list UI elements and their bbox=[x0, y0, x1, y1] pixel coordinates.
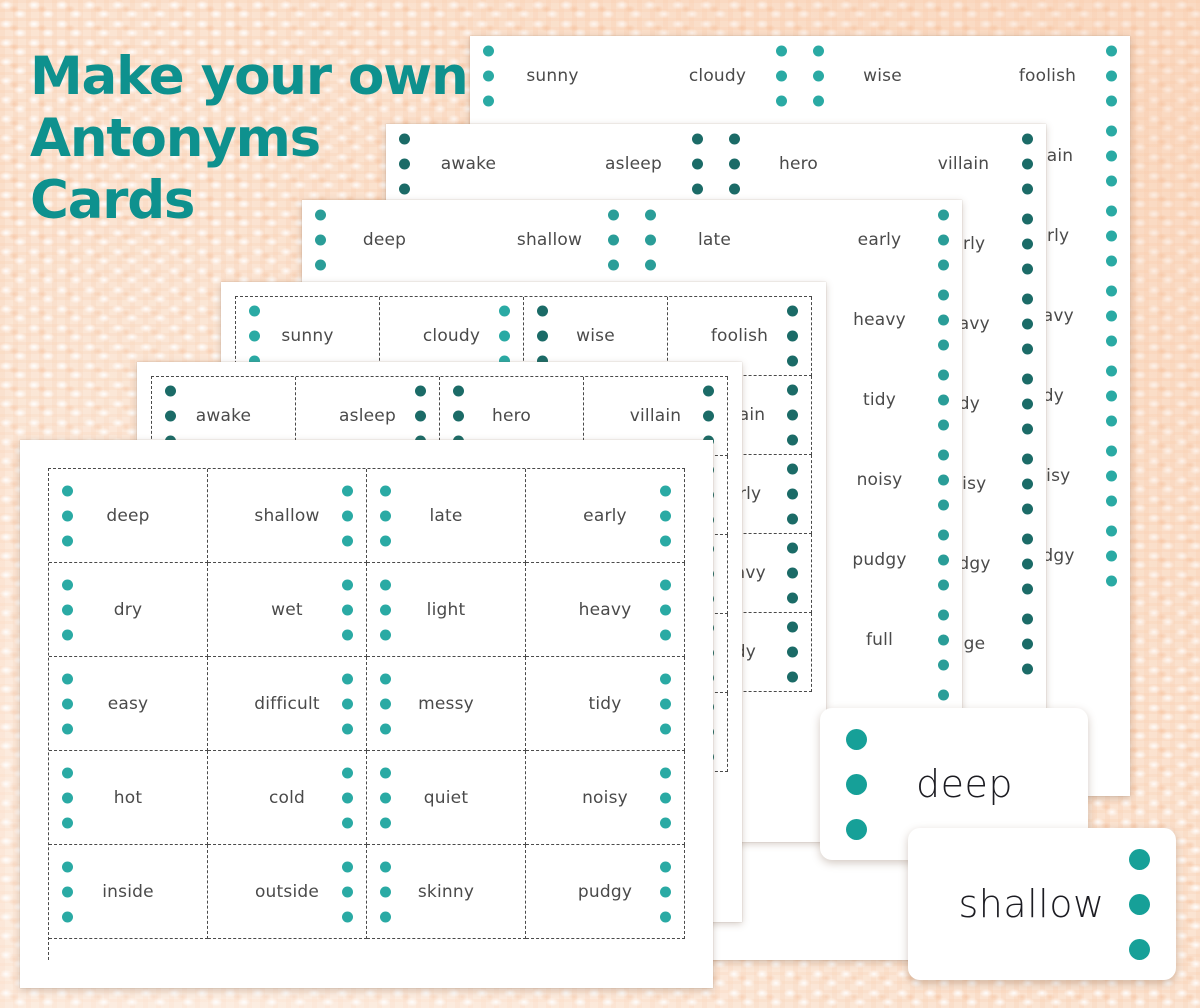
dot bbox=[1106, 231, 1117, 242]
dot-column bbox=[1022, 454, 1033, 515]
dot-column bbox=[342, 673, 353, 734]
card-word: shallow bbox=[254, 506, 319, 526]
dot bbox=[1106, 96, 1117, 107]
dot bbox=[499, 306, 510, 317]
flashcard-dot-column bbox=[846, 729, 867, 840]
card-word: cloudy bbox=[689, 66, 746, 86]
dot bbox=[787, 593, 798, 604]
dot-column bbox=[62, 673, 73, 734]
dot bbox=[499, 331, 510, 342]
dot bbox=[1106, 286, 1117, 297]
card-cell[interactable]: hot bbox=[49, 751, 208, 845]
dot bbox=[62, 911, 73, 922]
dot-column bbox=[249, 306, 260, 367]
dot-column bbox=[787, 543, 798, 604]
dot bbox=[315, 235, 326, 246]
dot bbox=[62, 767, 73, 778]
dot bbox=[1106, 416, 1117, 427]
card-cell[interactable]: outside bbox=[208, 845, 367, 939]
dot bbox=[1106, 471, 1117, 482]
dot-column bbox=[1106, 526, 1117, 587]
dot-column bbox=[729, 134, 740, 195]
card-cell[interactable]: late bbox=[367, 469, 526, 563]
flashcard-word: deep bbox=[867, 762, 1062, 806]
flashcard-word: shallow bbox=[934, 882, 1129, 926]
title-line-1: Make your own bbox=[30, 46, 500, 108]
dot bbox=[776, 71, 787, 82]
card-cell[interactable]: early bbox=[526, 469, 685, 563]
card-cell[interactable]: light bbox=[367, 563, 526, 657]
dot bbox=[787, 410, 798, 421]
dot bbox=[1022, 344, 1033, 355]
dot-column bbox=[938, 610, 949, 671]
dot bbox=[938, 235, 949, 246]
dot bbox=[342, 911, 353, 922]
dot bbox=[813, 71, 824, 82]
dot bbox=[660, 911, 671, 922]
dot bbox=[1022, 534, 1033, 545]
dot bbox=[608, 210, 619, 221]
card-word: asleep bbox=[339, 406, 396, 426]
dot bbox=[380, 861, 391, 872]
card-word: foolish bbox=[1019, 66, 1076, 86]
dot bbox=[645, 260, 656, 271]
dot bbox=[415, 386, 426, 397]
dot bbox=[938, 315, 949, 326]
dot bbox=[1022, 639, 1033, 650]
dot bbox=[1022, 134, 1033, 145]
dot bbox=[380, 673, 391, 684]
dot bbox=[342, 817, 353, 828]
dot bbox=[62, 817, 73, 828]
dot bbox=[1022, 479, 1033, 490]
dot-column bbox=[1106, 286, 1117, 347]
card-word: messy bbox=[418, 694, 474, 714]
card-word: sunny bbox=[281, 326, 333, 346]
dot bbox=[787, 647, 798, 658]
dot bbox=[1022, 184, 1033, 195]
card-cell[interactable]: wise bbox=[800, 36, 965, 116]
dot bbox=[380, 817, 391, 828]
card-word: full bbox=[866, 630, 893, 650]
dot bbox=[846, 819, 867, 840]
card-word: foolish bbox=[711, 326, 768, 346]
dot bbox=[1129, 849, 1150, 870]
dot bbox=[787, 514, 798, 525]
dot-column bbox=[380, 579, 391, 640]
dot bbox=[938, 210, 949, 221]
dot bbox=[1106, 526, 1117, 537]
card-word: outside bbox=[255, 882, 319, 902]
card-word: villain bbox=[630, 406, 682, 426]
card-word: sunny bbox=[526, 66, 578, 86]
dot bbox=[1129, 894, 1150, 915]
dot bbox=[938, 370, 949, 381]
card-row: deepshallowlateearly bbox=[49, 469, 685, 563]
dot bbox=[380, 604, 391, 615]
dot bbox=[62, 485, 73, 496]
dot bbox=[62, 510, 73, 521]
dot bbox=[813, 96, 824, 107]
dot bbox=[1022, 374, 1033, 385]
dot bbox=[787, 306, 798, 317]
dot bbox=[1022, 264, 1033, 275]
dot-column bbox=[660, 861, 671, 922]
card-row: hotcoldquietnoisy bbox=[49, 751, 685, 845]
card-word: wise bbox=[863, 66, 902, 86]
card-cell[interactable]: cold bbox=[208, 751, 367, 845]
card-word: noisy bbox=[582, 788, 628, 808]
dot-column bbox=[62, 861, 73, 922]
dot bbox=[787, 356, 798, 367]
dot bbox=[342, 579, 353, 590]
dot bbox=[342, 792, 353, 803]
card-word: dry bbox=[114, 600, 142, 620]
card-word: hero bbox=[779, 154, 818, 174]
dot bbox=[703, 386, 714, 397]
dot-column bbox=[342, 767, 353, 828]
page-title: Make your own Antonyms Cards bbox=[30, 46, 500, 232]
dot-column bbox=[380, 767, 391, 828]
dot bbox=[813, 46, 824, 57]
dot bbox=[660, 579, 671, 590]
dot bbox=[787, 435, 798, 446]
card-cell[interactable]: quiet bbox=[367, 751, 526, 845]
dot-column bbox=[1106, 126, 1117, 187]
dot-column bbox=[787, 306, 798, 367]
card-row: drywetlightheavy bbox=[49, 563, 685, 657]
card-word: inside bbox=[102, 882, 154, 902]
dot bbox=[62, 579, 73, 590]
dot bbox=[1022, 614, 1033, 625]
dot bbox=[938, 290, 949, 301]
dot bbox=[660, 485, 671, 496]
dot bbox=[1106, 391, 1117, 402]
card-word: late bbox=[698, 230, 731, 250]
card-word: cold bbox=[269, 788, 305, 808]
dot-column bbox=[660, 673, 671, 734]
card-word: early bbox=[583, 506, 627, 526]
dot bbox=[380, 886, 391, 897]
sheet-deep-dashed-front: deepshallowlateearlydrywetlightheavyeasy… bbox=[20, 440, 713, 988]
dot bbox=[1106, 446, 1117, 457]
dot bbox=[729, 184, 740, 195]
dot bbox=[315, 260, 326, 271]
dot bbox=[938, 450, 949, 461]
dot-column bbox=[1022, 134, 1033, 195]
dot-column bbox=[660, 485, 671, 546]
dot bbox=[249, 306, 260, 317]
dot bbox=[1022, 454, 1033, 465]
card-cell[interactable]: deep bbox=[49, 469, 208, 563]
dot-column bbox=[380, 673, 391, 734]
card-word: heavy bbox=[853, 310, 906, 330]
card-cell[interactable]: heavy bbox=[526, 563, 685, 657]
dot bbox=[1022, 664, 1033, 675]
dot bbox=[787, 489, 798, 500]
card-cell[interactable]: difficult bbox=[208, 657, 367, 751]
dot bbox=[1022, 319, 1033, 330]
dot-column bbox=[1022, 614, 1033, 675]
dot bbox=[380, 510, 391, 521]
dot bbox=[1022, 399, 1033, 410]
dot-column bbox=[453, 386, 464, 447]
dot bbox=[660, 886, 671, 897]
card-word: deep bbox=[106, 506, 149, 526]
dot bbox=[660, 629, 671, 640]
dot bbox=[342, 485, 353, 496]
card-cell[interactable]: easy bbox=[49, 657, 208, 751]
card-cell[interactable]: wet bbox=[208, 563, 367, 657]
dot-column bbox=[1022, 214, 1033, 275]
dot bbox=[703, 411, 714, 422]
dot bbox=[380, 579, 391, 590]
dot bbox=[660, 792, 671, 803]
dot-column bbox=[342, 579, 353, 640]
card-cell[interactable]: villain bbox=[881, 124, 1046, 204]
dot-column bbox=[1022, 294, 1033, 355]
dot-column bbox=[608, 210, 619, 271]
card-word: shallow bbox=[517, 230, 582, 250]
dot bbox=[342, 673, 353, 684]
dot bbox=[380, 485, 391, 496]
dot-column bbox=[703, 386, 714, 447]
dot-column bbox=[62, 767, 73, 828]
dot bbox=[938, 690, 949, 701]
card-row: easydifficultmessytidy bbox=[49, 657, 685, 751]
dot-column bbox=[938, 370, 949, 431]
dot-column bbox=[645, 210, 656, 271]
dot bbox=[62, 723, 73, 734]
dot bbox=[1106, 46, 1117, 57]
card-word: hot bbox=[114, 788, 142, 808]
dot bbox=[249, 331, 260, 342]
card-cell[interactable]: hero bbox=[716, 124, 881, 204]
dot bbox=[938, 395, 949, 406]
dot-column bbox=[787, 464, 798, 525]
card-word: late bbox=[429, 506, 462, 526]
dot bbox=[660, 861, 671, 872]
dot-column bbox=[692, 134, 703, 195]
dot bbox=[342, 510, 353, 521]
dot bbox=[342, 723, 353, 734]
dot bbox=[938, 340, 949, 351]
dot bbox=[1106, 176, 1117, 187]
dot-column bbox=[938, 210, 949, 271]
dot-column bbox=[1106, 446, 1117, 507]
dot-column bbox=[813, 46, 824, 107]
title-line-2: Antonyms bbox=[30, 108, 500, 170]
card-cell[interactable]: skinny bbox=[367, 845, 526, 939]
card-grid: deepshallowlateearlydrywetlightheavyeasy… bbox=[48, 468, 685, 960]
dot-column bbox=[1022, 534, 1033, 595]
dot bbox=[787, 331, 798, 342]
dot bbox=[1106, 366, 1117, 377]
dot bbox=[165, 411, 176, 422]
dot bbox=[62, 673, 73, 684]
dot bbox=[1022, 239, 1033, 250]
card-cell[interactable]: tidy bbox=[526, 657, 685, 751]
dot bbox=[1129, 939, 1150, 960]
card-word: deep bbox=[363, 230, 406, 250]
dot bbox=[846, 774, 867, 795]
dot bbox=[645, 210, 656, 221]
dot bbox=[938, 660, 949, 671]
card-cell[interactable]: pudgy bbox=[526, 845, 685, 939]
dot bbox=[1106, 336, 1117, 347]
dot bbox=[1022, 504, 1033, 515]
dot bbox=[787, 622, 798, 633]
dot bbox=[938, 635, 949, 646]
dot bbox=[342, 886, 353, 897]
dot bbox=[380, 767, 391, 778]
card-cell[interactable]: messy bbox=[367, 657, 526, 751]
card-word: tidy bbox=[588, 694, 621, 714]
card-word: pudgy bbox=[578, 882, 632, 902]
dot-column bbox=[537, 306, 548, 367]
dot bbox=[1106, 551, 1117, 562]
dot bbox=[342, 604, 353, 615]
card-cell[interactable]: shallow bbox=[208, 469, 367, 563]
dot-column bbox=[499, 306, 510, 367]
card-cell[interactable]: noisy bbox=[526, 751, 685, 845]
dot bbox=[1106, 151, 1117, 162]
dot-column bbox=[1106, 46, 1117, 107]
card-word: skinny bbox=[418, 882, 474, 902]
dot bbox=[608, 235, 619, 246]
dot bbox=[453, 386, 464, 397]
dot bbox=[938, 475, 949, 486]
dot bbox=[608, 260, 619, 271]
dot bbox=[938, 555, 949, 566]
dot-column bbox=[938, 530, 949, 591]
dot bbox=[342, 767, 353, 778]
dot bbox=[342, 698, 353, 709]
dot bbox=[660, 510, 671, 521]
card-word: noisy bbox=[857, 470, 903, 490]
card-word: quiet bbox=[424, 788, 468, 808]
dot bbox=[660, 723, 671, 734]
dot bbox=[729, 159, 740, 170]
dot-column bbox=[776, 46, 787, 107]
dot bbox=[1106, 256, 1117, 267]
dot-column bbox=[787, 622, 798, 683]
card-word: awake bbox=[196, 406, 251, 426]
dot bbox=[692, 134, 703, 145]
dot bbox=[380, 723, 391, 734]
dot-column bbox=[787, 385, 798, 446]
flashcard-dot-column bbox=[1129, 849, 1150, 960]
dot bbox=[776, 46, 787, 57]
dot-column bbox=[1022, 374, 1033, 435]
card-word: villain bbox=[938, 154, 990, 174]
card-word: early bbox=[858, 230, 902, 250]
dot-column bbox=[938, 450, 949, 511]
dot bbox=[1106, 496, 1117, 507]
card-word: hero bbox=[492, 406, 531, 426]
dot-column bbox=[62, 579, 73, 640]
dot bbox=[938, 420, 949, 431]
dot bbox=[692, 184, 703, 195]
dot bbox=[415, 411, 426, 422]
dot bbox=[1022, 294, 1033, 305]
dot-column bbox=[1106, 366, 1117, 427]
dot bbox=[645, 235, 656, 246]
dot bbox=[380, 629, 391, 640]
dot bbox=[453, 411, 464, 422]
card-cell[interactable]: dry bbox=[49, 563, 208, 657]
dot-column bbox=[342, 485, 353, 546]
dot bbox=[787, 672, 798, 683]
dot bbox=[62, 861, 73, 872]
dot bbox=[938, 530, 949, 541]
dot-column bbox=[342, 861, 353, 922]
card-cell[interactable]: late bbox=[632, 200, 797, 280]
dot bbox=[1022, 559, 1033, 570]
dot-column bbox=[165, 386, 176, 447]
card-cell[interactable]: cloudy bbox=[635, 36, 800, 116]
dot bbox=[1022, 424, 1033, 435]
card-word: wise bbox=[576, 326, 615, 346]
dot bbox=[342, 535, 353, 546]
dot-column bbox=[1106, 206, 1117, 267]
dot bbox=[938, 610, 949, 621]
dot bbox=[62, 604, 73, 615]
card-word: wet bbox=[271, 600, 303, 620]
card-cell[interactable]: foolish bbox=[965, 36, 1130, 116]
dot bbox=[62, 792, 73, 803]
card-word: tidy bbox=[863, 390, 896, 410]
dot bbox=[537, 331, 548, 342]
dot bbox=[1106, 71, 1117, 82]
dot bbox=[1022, 214, 1033, 225]
dot bbox=[660, 698, 671, 709]
card-word: asleep bbox=[605, 154, 662, 174]
card-cell[interactable]: asleep bbox=[551, 124, 716, 204]
dot bbox=[1022, 584, 1033, 595]
dot-column bbox=[380, 861, 391, 922]
dot bbox=[787, 385, 798, 396]
dot bbox=[660, 604, 671, 615]
dot bbox=[537, 306, 548, 317]
card-cell[interactable]: early bbox=[797, 200, 962, 280]
dot bbox=[342, 629, 353, 640]
card-word: light bbox=[427, 600, 466, 620]
dot bbox=[1106, 126, 1117, 137]
dot bbox=[776, 96, 787, 107]
dot bbox=[787, 543, 798, 554]
dot bbox=[342, 861, 353, 872]
dot bbox=[62, 698, 73, 709]
dot bbox=[938, 500, 949, 511]
dot bbox=[380, 792, 391, 803]
dot-column bbox=[62, 485, 73, 546]
dot bbox=[729, 134, 740, 145]
dot bbox=[660, 817, 671, 828]
card-cell[interactable]: inside bbox=[49, 845, 208, 939]
dot bbox=[1106, 206, 1117, 217]
card-row: insideoutsideskinnypudgy bbox=[49, 845, 685, 939]
dot bbox=[1022, 159, 1033, 170]
dot bbox=[380, 911, 391, 922]
title-line-3: Cards bbox=[30, 170, 500, 232]
card-word: heavy bbox=[579, 600, 632, 620]
card-word: cloudy bbox=[423, 326, 480, 346]
card-word: pudgy bbox=[852, 550, 906, 570]
dot bbox=[660, 767, 671, 778]
card-row: sunnycloudywisefoolish bbox=[470, 36, 1130, 116]
flashcard-shallow[interactable]: shallow bbox=[908, 828, 1176, 980]
